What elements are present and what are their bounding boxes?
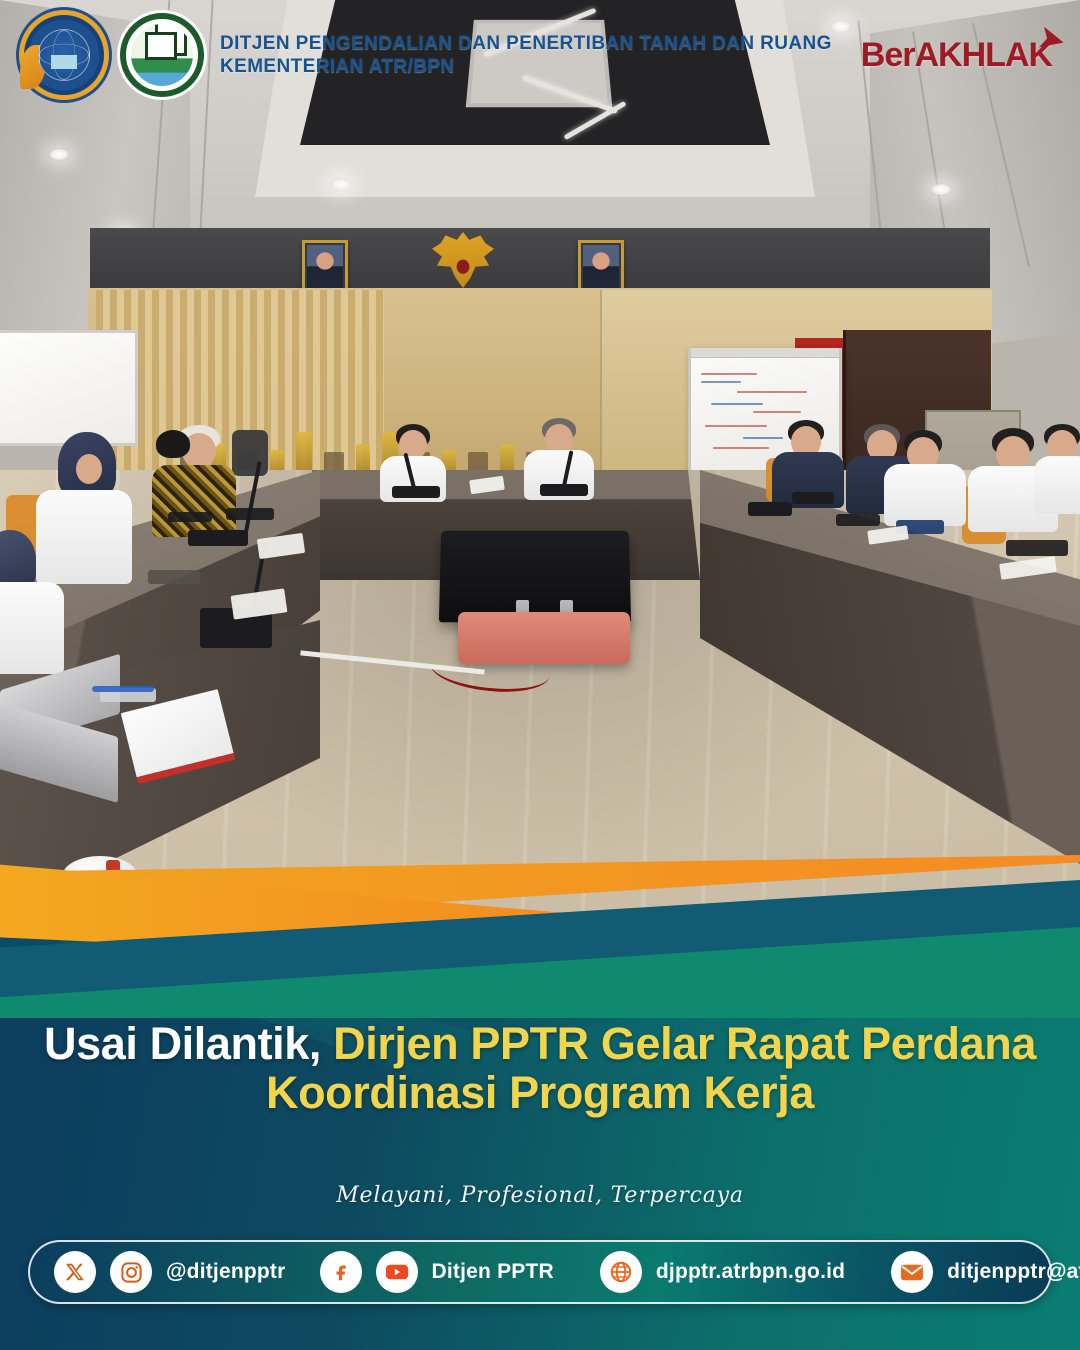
attendee-hijab-2 (0, 530, 70, 670)
attendee-far (160, 440, 212, 492)
attendee-right-5 (1034, 424, 1080, 512)
television-monitor (439, 531, 631, 623)
microphone-base (392, 486, 440, 498)
tablet (1006, 540, 1068, 556)
globe-icon[interactable] (600, 1251, 642, 1293)
poster-header: DITJEN PENGENDALIAN DAN PENERTIBAN TANAH… (0, 0, 1080, 110)
microphone-base (188, 530, 248, 546)
meeting-room-photo (0, 0, 1080, 920)
downlight (930, 183, 952, 196)
headline-yellow-part-1: Dirjen PPTR Gelar Rapat Perdana (333, 1018, 1036, 1069)
headline-yellow-part-2: Koordinasi Program Kerja (34, 1069, 1046, 1118)
phone (168, 512, 212, 522)
pen (92, 686, 154, 692)
tagline: Melayani, Profesional, Terpercaya (0, 1183, 1080, 1208)
downlight (330, 178, 352, 191)
social-website[interactable]: djpptr.atrbpn.go.id (656, 1260, 845, 1284)
email-icon[interactable] (891, 1251, 933, 1293)
ditjen-pptr-seal-icon (120, 13, 204, 97)
social-media-poster: DITJEN PENGENDALIAN DAN PENERTIBAN TANAH… (0, 0, 1080, 1350)
berakhlak-swoosh-icon: ➤ (1035, 19, 1068, 59)
social-email[interactable]: ditjenpptr@atrbpn.go.id (947, 1260, 1080, 1284)
header-line-1: DITJEN PENGENDALIAN DAN PENERTIBAN TANAH… (220, 32, 832, 55)
eyeglasses (148, 570, 200, 584)
social-handle[interactable]: @ditjenpptr (166, 1260, 286, 1284)
kementerian-atr-bpn-seal-icon (18, 9, 110, 101)
downlight (48, 148, 70, 161)
microphone-base (748, 502, 792, 516)
back-wall-band (90, 228, 990, 290)
headline-line-1: Usai Dilantik, Dirjen PPTR Gelar Rapat P… (34, 1020, 1046, 1069)
attendee-right-3 (884, 430, 966, 522)
tablet (836, 514, 880, 526)
social-media-bar: @ditjenpptr Ditjen PPTR djpptr.atrbpn.go… (28, 1240, 1052, 1304)
phone (226, 508, 274, 520)
header-title-block: DITJEN PENGENDALIAN DAN PENERTIBAN TANAH… (220, 32, 832, 78)
headline-white-part: Usai Dilantik, (44, 1018, 321, 1069)
tablet (792, 492, 834, 504)
header-line-2: KEMENTERIAN ATR/BPN (220, 55, 832, 78)
berakhlak-logo: BerAKHLAK ➤ (861, 36, 1062, 75)
facebook-icon[interactable] (320, 1251, 362, 1293)
youtube-icon[interactable] (376, 1251, 418, 1293)
headline: Usai Dilantik, Dirjen PPTR Gelar Rapat P… (0, 1020, 1080, 1117)
berakhlak-text: BerAKHLAK (861, 36, 1052, 74)
left-whiteboard (0, 330, 138, 446)
x-twitter-icon[interactable] (54, 1251, 96, 1293)
social-page-name[interactable]: Ditjen PPTR (432, 1260, 554, 1284)
instagram-icon[interactable] (110, 1251, 152, 1293)
